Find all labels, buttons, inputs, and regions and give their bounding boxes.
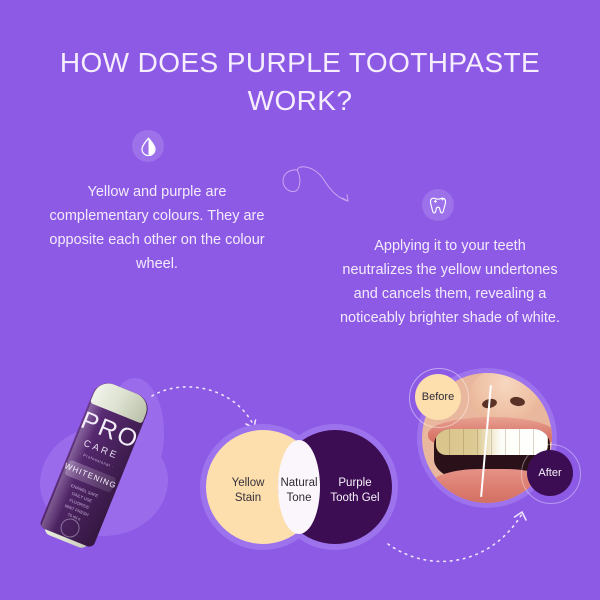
nose xyxy=(470,373,542,421)
point-text-neutralizes-yellow: Applying it to your teeth neutralizes th… xyxy=(315,234,585,330)
venn-label-yellow-stain: Yellow Stain xyxy=(212,476,284,506)
infographic-canvas: HOW DOES PURPLE TOOTHPASTE WORK? Yellow … xyxy=(0,0,600,600)
before-badge: Before xyxy=(415,374,461,420)
tube-body: PRO CARE · Professional · WHITENING ENAM… xyxy=(39,378,153,548)
tooth-sparkle-icon xyxy=(422,189,454,221)
venn-label-purple-tooth-gel: Purple Tooth Gel xyxy=(316,476,394,506)
point-text-complementary-colours: Yellow and purple are complementary colo… xyxy=(22,180,292,276)
before-after-comparison: Before After xyxy=(409,366,585,508)
page-title: HOW DOES PURPLE TOOTHPASTE WORK? xyxy=(50,44,550,120)
dotted-arrow-venn-to-photo xyxy=(386,500,556,578)
venn-label-natural-tone: Natural Tone xyxy=(276,476,322,506)
after-badge: After xyxy=(527,450,573,496)
half-filled-droplet-icon xyxy=(132,130,164,162)
toothpaste-tube-image: PRO CARE · Professional · WHITENING ENAM… xyxy=(40,356,160,556)
venn-diagram: Yellow Stain Purple Tooth Gel Natural To… xyxy=(198,422,402,574)
curly-arrow-decoration xyxy=(268,162,380,224)
